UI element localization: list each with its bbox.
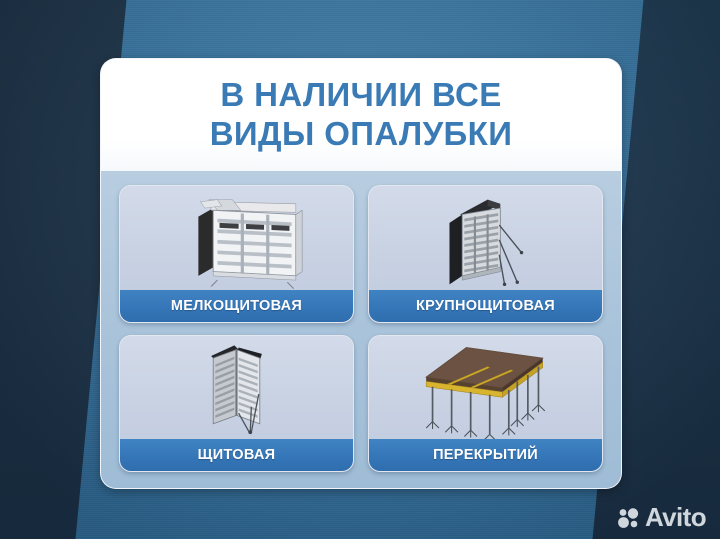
formwork-type-grid: МЕЛКОЩИТОВАЯ: [119, 185, 603, 472]
card-label-column: ЩИТОВАЯ: [120, 439, 353, 471]
large-panel-formwork-image: [369, 186, 602, 290]
large-panel-formwork-icon: [369, 186, 602, 290]
main-panel: В НАЛИЧИИ ВСЕ ВИДЫ ОПАЛУБКИ: [100, 58, 622, 489]
panel-header: В НАЛИЧИИ ВСЕ ВИДЫ ОПАЛУБКИ: [101, 59, 621, 171]
small-panel-formwork-icon: [120, 186, 353, 290]
poster-image: В НАЛИЧИИ ВСЕ ВИДЫ ОПАЛУБКИ: [0, 0, 720, 539]
avito-wordmark: Avito: [645, 502, 706, 533]
card-small-panel-formwork[interactable]: МЕЛКОЩИТОВАЯ: [119, 185, 354, 323]
page-title: В НАЛИЧИИ ВСЕ ВИДЫ ОПАЛУБКИ: [210, 76, 513, 154]
column-formwork-image: [120, 336, 353, 440]
avito-watermark: Avito: [616, 502, 706, 533]
slab-formwork-icon: [369, 336, 602, 440]
avito-dots-logo: [616, 507, 640, 529]
title-line-1: В НАЛИЧИИ ВСЕ: [220, 76, 501, 113]
card-column-formwork[interactable]: ЩИТОВАЯ: [119, 335, 354, 473]
card-label-large-panel: КРУПНОЩИТОВАЯ: [369, 290, 602, 322]
small-panel-formwork-image: [120, 186, 353, 290]
slab-formwork-image: [369, 336, 602, 440]
column-formwork-icon: [120, 336, 353, 440]
card-large-panel-formwork[interactable]: КРУПНОЩИТОВАЯ: [368, 185, 603, 323]
card-slab-formwork[interactable]: ПЕРЕКРЫТИЙ: [368, 335, 603, 473]
card-label-small-panel: МЕЛКОЩИТОВАЯ: [120, 290, 353, 322]
panel-body: МЕЛКОЩИТОВАЯ: [101, 171, 621, 488]
card-label-slab: ПЕРЕКРЫТИЙ: [369, 439, 602, 471]
title-line-2: ВИДЫ ОПАЛУБКИ: [210, 115, 513, 154]
